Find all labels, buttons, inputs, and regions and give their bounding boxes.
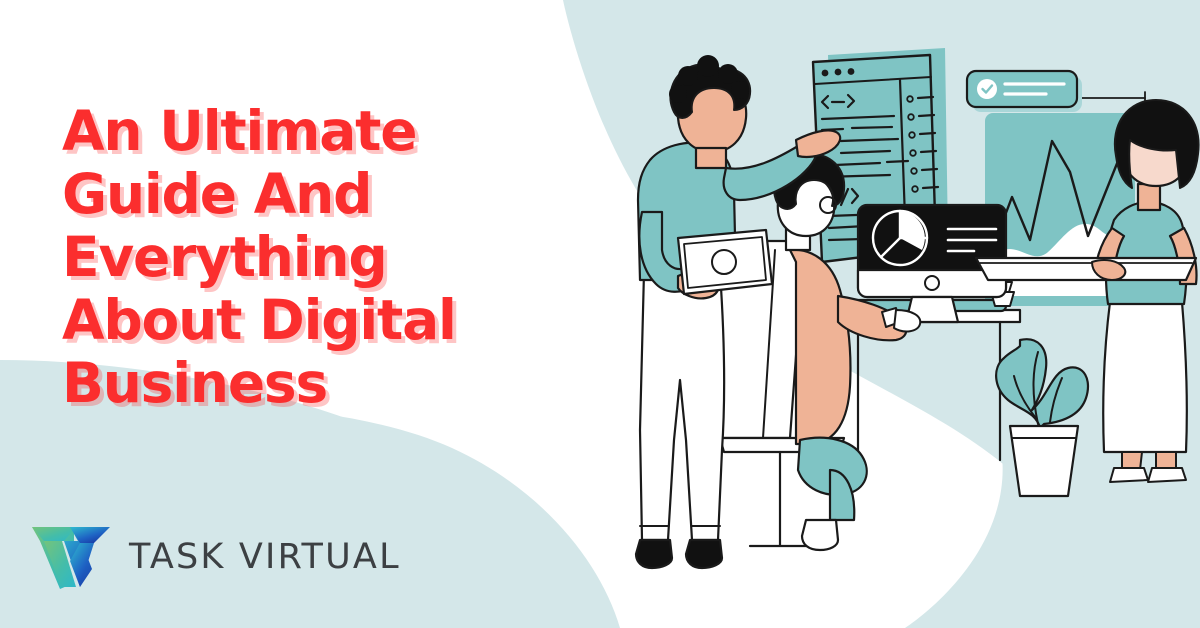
potted-cactus bbox=[996, 339, 1088, 496]
headline: An Ultimate Guide And Everything About D… bbox=[62, 100, 532, 415]
digital-business-illustration bbox=[600, 0, 1200, 628]
background-blob-bottom-left-curve bbox=[0, 405, 620, 628]
window-dot bbox=[848, 68, 855, 75]
headline-line-5: Business bbox=[62, 352, 532, 415]
logo-wordmark: TASK VIRTUAL bbox=[129, 540, 401, 575]
headline-line-1: An Ultimate bbox=[62, 100, 532, 163]
window-dot bbox=[822, 70, 829, 77]
promo-banner: An Ultimate Guide And Everything About D… bbox=[0, 0, 1200, 628]
headline-line-4: About Digital bbox=[62, 289, 532, 352]
task-virtual-v-mark-icon bbox=[30, 521, 116, 593]
check-circle-icon bbox=[977, 79, 997, 99]
logo-lockup[interactable]: TASK VIRTUAL bbox=[30, 521, 401, 593]
headline-line-2: Guide And bbox=[62, 163, 532, 226]
approved-check-card bbox=[967, 71, 1082, 112]
window-dot bbox=[835, 69, 842, 76]
headline-line-3: Everything bbox=[62, 226, 532, 289]
